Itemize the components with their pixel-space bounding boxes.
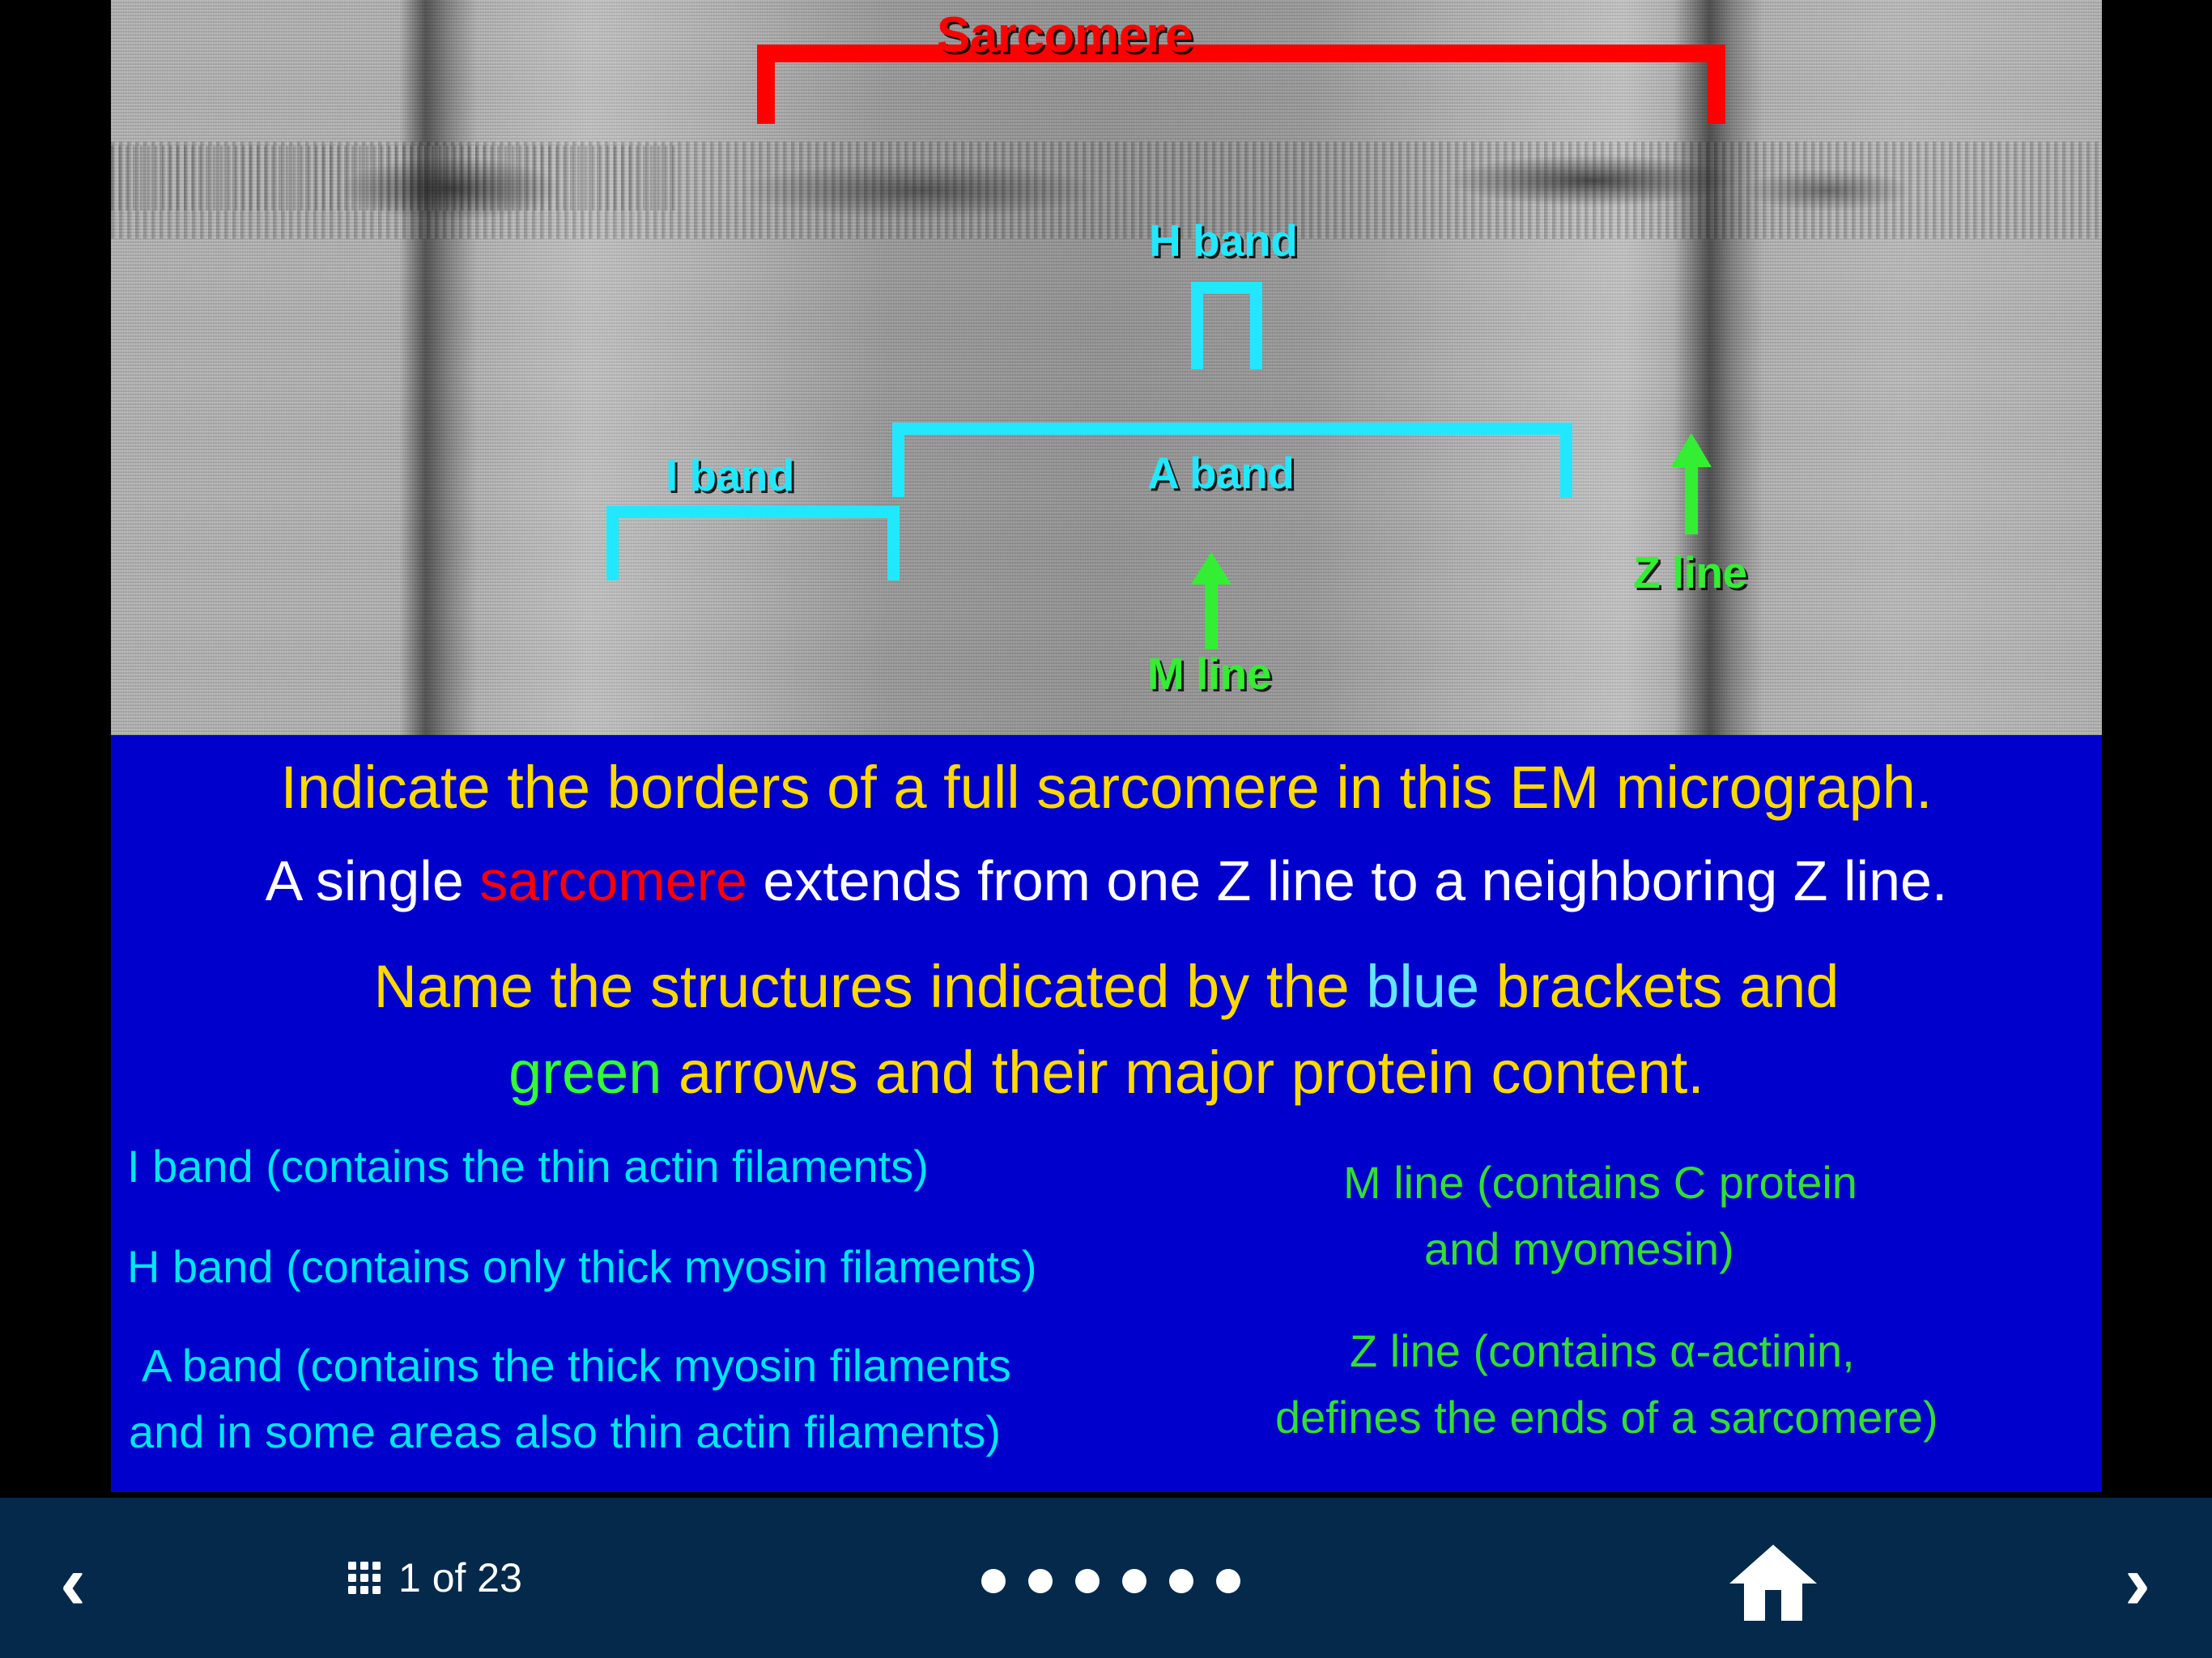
dot-6[interactable]: [1216, 1569, 1240, 1593]
chevron-left-icon: ‹: [60, 1544, 86, 1622]
previous-slide-button[interactable]: ‹: [32, 1546, 113, 1619]
dot-1[interactable]: [981, 1569, 1006, 1593]
slide-index-control[interactable]: 1 of 23: [348, 1554, 522, 1601]
a-band-label: A band: [1147, 447, 1294, 499]
answer-i-band: I band (contains the thin actin filament…: [127, 1140, 929, 1192]
slide-canvas: Sarcomere H band A band I band M line Z …: [111, 0, 2102, 1492]
dot-3[interactable]: [1075, 1569, 1100, 1593]
i-band-label: I band: [666, 449, 794, 501]
answer-h-band: H band (contains only thick myosin filam…: [127, 1240, 1037, 1293]
question-line-4: green arrows and their major protein con…: [111, 1038, 2102, 1107]
home-button[interactable]: [1721, 1538, 1826, 1627]
question-line-2-part-2: extends from one Z line to a neighboring…: [747, 849, 1948, 912]
question-line-3: Name the structures indicated by the blu…: [111, 952, 2102, 1021]
slide-dots-indicator[interactable]: [981, 1569, 1240, 1593]
bottom-toolbar: ‹ 1 of 23 ›: [0, 1498, 2212, 1658]
presentation-viewer: Sarcomere H band A band I band M line Z …: [0, 0, 2212, 1658]
dot-2[interactable]: [1028, 1569, 1053, 1593]
m-line-arrow: [1189, 552, 1233, 649]
z-line-label: Z line: [1633, 546, 1747, 598]
question-line-4-highlight: green: [508, 1039, 661, 1106]
h-band-label: H band: [1149, 215, 1297, 266]
question-line-4-part-2: arrows and their major protein content.: [661, 1039, 1704, 1106]
question-line-2-highlight: sarcomere: [479, 849, 747, 912]
question-line-3-part-1: Name the structures indicated by the: [374, 953, 1367, 1020]
slide-text-panel: Indicate the borders of a full sarcomere…: [111, 735, 2102, 1492]
question-line-1: Indicate the borders of a full sarcomere…: [111, 753, 2102, 822]
electron-micrograph-image: Sarcomere H band A band I band M line Z …: [111, 0, 2102, 735]
h-band-bracket: [1191, 282, 1262, 369]
micrograph-texture-patch: [111, 146, 678, 210]
page-indicator-label: 1 of 23: [398, 1554, 522, 1601]
next-slide-button[interactable]: ›: [2097, 1546, 2178, 1619]
chevron-right-icon: ›: [2125, 1544, 2150, 1622]
i-band-bracket: [606, 506, 900, 580]
sarcomere-label: Sarcomere: [937, 6, 1193, 64]
z-line-arrow: [1670, 433, 1713, 534]
answer-a-band-line-2: and in some areas also thin actin filame…: [129, 1405, 1001, 1458]
m-line-label: M line: [1147, 648, 1271, 699]
answer-m-line-line-2: and myomesin): [1424, 1222, 1734, 1275]
question-line-2: A single sarcomere extends from one Z li…: [111, 848, 2102, 913]
grid-icon[interactable]: [348, 1562, 381, 1594]
question-line-3-part-2: brackets and: [1479, 953, 1839, 1020]
question-line-2-part-1: A single: [266, 849, 480, 912]
micrograph-mitochondria-band: [111, 142, 2102, 239]
answer-a-band-line-1: A band (contains the thick myosin filame…: [142, 1339, 1011, 1392]
answer-z-line-line-1: Z line (contains α-actinin,: [1350, 1324, 1855, 1377]
home-icon: [1728, 1543, 1819, 1622]
dot-4[interactable]: [1122, 1569, 1146, 1593]
dot-5[interactable]: [1169, 1569, 1193, 1593]
sarcomere-bracket: [757, 45, 1725, 124]
answer-z-line-line-2: defines the ends of a sarcomere): [1275, 1391, 1938, 1443]
answer-m-line-line-1: M line (contains C protein: [1343, 1156, 1857, 1209]
question-line-3-highlight: blue: [1366, 953, 1479, 1020]
